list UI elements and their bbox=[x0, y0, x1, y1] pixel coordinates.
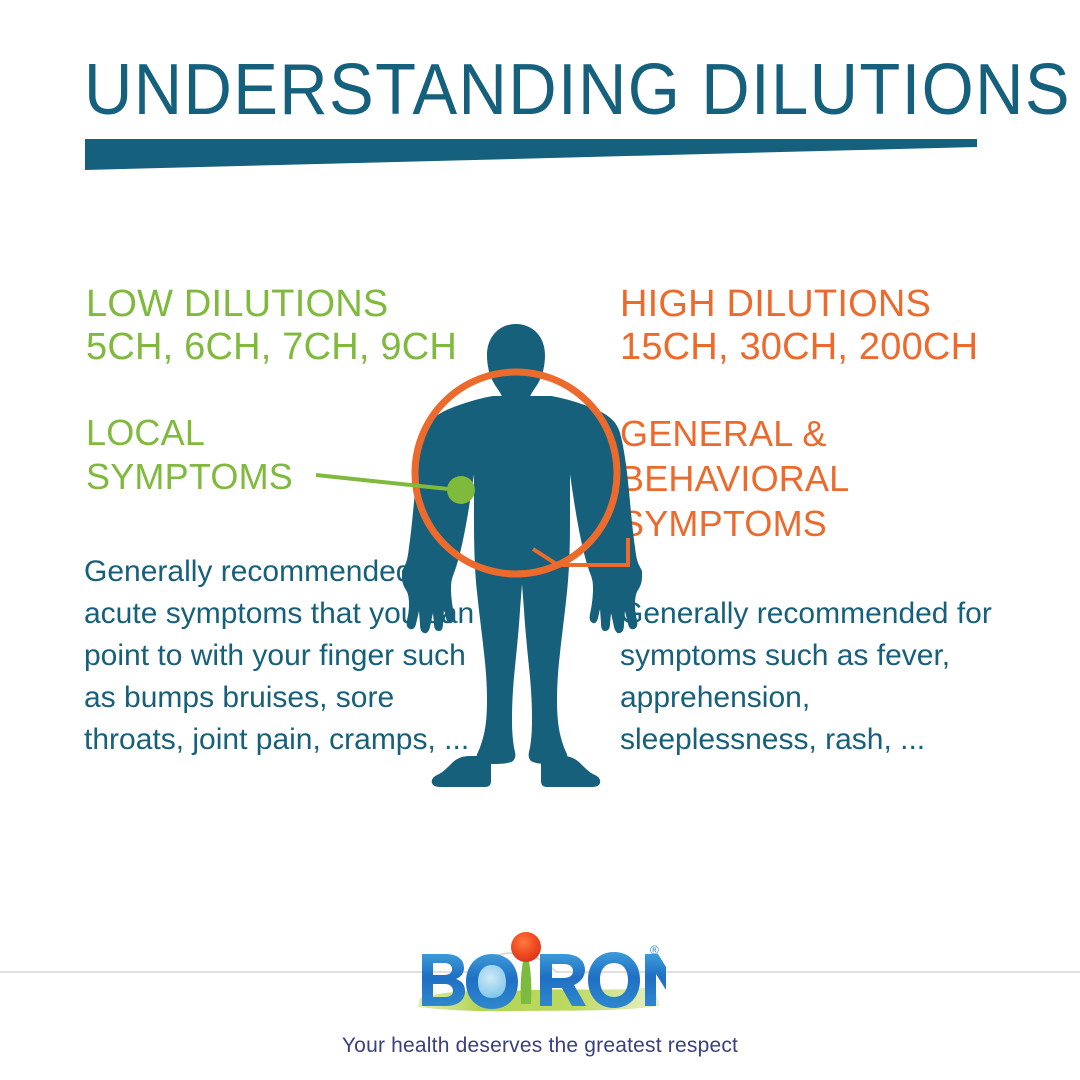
logo-letter-o2 bbox=[588, 952, 640, 1008]
high-dilutions-heading: HIGH DILUTIONS 15CH, 30CH, 200CH bbox=[620, 283, 978, 369]
page-title: UNDERSTANDING DILUTIONS bbox=[84, 52, 932, 128]
local-symptoms-description: Generally recommended for acute symptoms… bbox=[84, 551, 484, 761]
local-symptoms-line1: LOCAL bbox=[86, 411, 293, 455]
general-symptoms-line3: SYMPTOMS bbox=[620, 501, 849, 546]
low-dilutions-heading-line2: 5CH, 6CH, 7CH, 9CH bbox=[86, 326, 457, 369]
green-target-dot bbox=[447, 476, 475, 504]
brand-tagline: Your health deserves the greatest respec… bbox=[0, 1034, 1080, 1058]
boiron-logo: ® bbox=[414, 930, 666, 1020]
local-symptoms-line2: SYMPTOMS bbox=[86, 455, 293, 499]
general-symptoms-line1: GENERAL & bbox=[620, 411, 849, 456]
logo-letter-n bbox=[645, 954, 666, 1006]
low-dilutions-heading-line1: LOW DILUTIONS bbox=[86, 283, 457, 326]
flower-stem bbox=[521, 956, 532, 1004]
high-dilutions-heading-line2: 15CH, 30CH, 200CH bbox=[620, 326, 978, 369]
registered-trademark-symbol: ® bbox=[650, 943, 659, 957]
title-underline-wedge bbox=[85, 139, 977, 173]
general-symptoms-label: GENERAL & BEHAVIORAL SYMPTOMS bbox=[620, 411, 849, 546]
flower-head-icon bbox=[511, 932, 541, 962]
green-leader-line bbox=[316, 475, 458, 490]
orange-focus-circle bbox=[415, 372, 617, 574]
general-symptoms-line2: BEHAVIORAL bbox=[620, 456, 849, 501]
infographic-page: UNDERSTANDING DILUTIONS LOW DILUTIONS 5C… bbox=[0, 0, 1080, 1080]
local-symptoms-label: LOCAL SYMPTOMS bbox=[86, 411, 293, 499]
logo-letter-b bbox=[422, 954, 465, 1006]
general-symptoms-description: Generally recommended for symptoms such … bbox=[620, 593, 1012, 761]
orange-leader-line bbox=[533, 538, 628, 565]
low-dilutions-heading: LOW DILUTIONS 5CH, 6CH, 7CH, 9CH bbox=[86, 283, 457, 369]
high-dilutions-heading-line1: HIGH DILUTIONS bbox=[620, 283, 978, 326]
